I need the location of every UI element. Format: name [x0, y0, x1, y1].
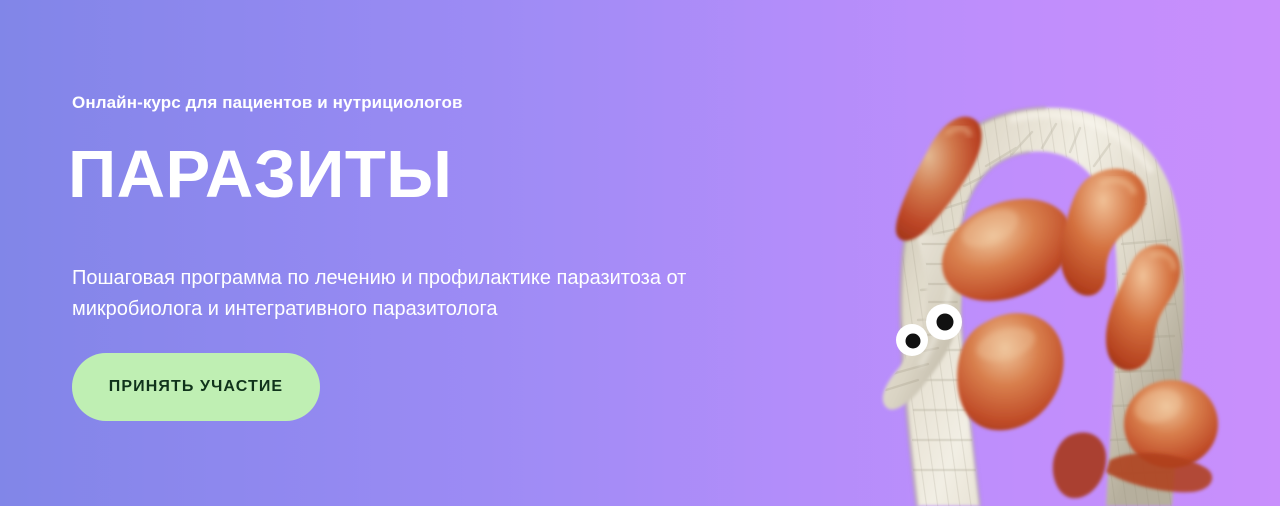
worm-arch-body [860, 35, 1276, 506]
hero-subtitle: Пошаговая программа по лечению и профила… [72, 263, 772, 325]
blood-cell-outer-left [896, 117, 982, 241]
blood-cell-large-center [926, 179, 1088, 320]
blood-cell-right-lobe [1106, 244, 1180, 370]
hero-content: Онлайн-курс для пациентов и нутрициолого… [72, 0, 832, 506]
blood-cell-lower-center [957, 313, 1063, 430]
googly-eye-right [926, 304, 962, 340]
hero-banner: Онлайн-курс для пациентов и нутрициолого… [0, 0, 1280, 506]
parasitic-worm-illustration [860, 0, 1280, 506]
blood-cell-bottom-right [1053, 380, 1218, 498]
page-title: ПАРАЗИТЫ [68, 141, 452, 209]
blood-cell-upper-right [1060, 169, 1146, 296]
hero-subtitle-line-1: Пошаговая программа по лечению и профила… [72, 263, 772, 294]
googly-eye-left [896, 324, 928, 356]
worm-head [883, 234, 966, 410]
hero-subtitle-line-2: микробиолога и интегративного паразитоло… [72, 294, 772, 325]
hero-eyebrow-label: Онлайн-курс для пациентов и нутрициолого… [72, 93, 463, 113]
participate-button[interactable]: ПРИНЯТЬ УЧАСТИЕ [72, 353, 320, 421]
